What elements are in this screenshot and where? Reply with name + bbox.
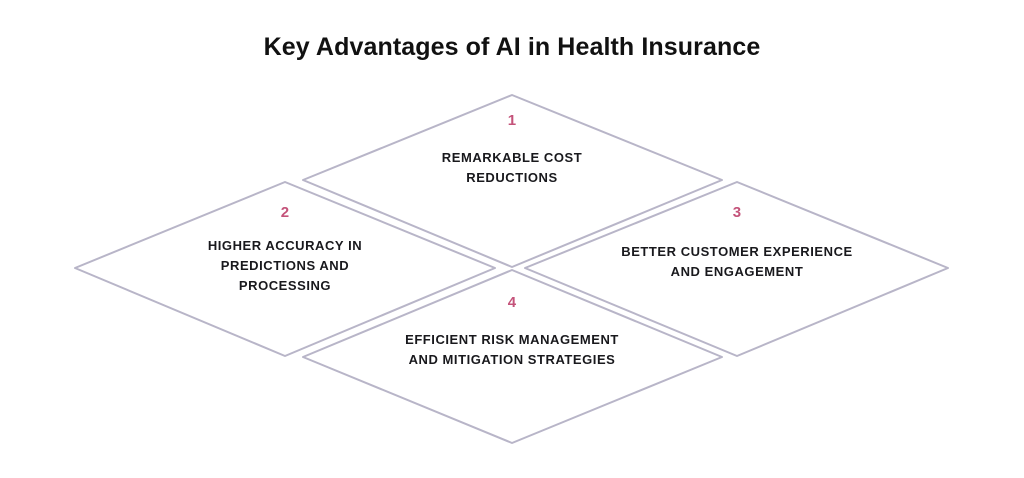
node-1-content[interactable]: 1 Remarkable cost reductions — [362, 112, 662, 188]
infographic-canvas: Key Advantages of AI in Health Insurance… — [0, 0, 1024, 478]
node-3-number: 3 — [587, 204, 887, 222]
node-2-label: Higher accuracy in predictions and proce… — [135, 236, 435, 296]
node-1-number: 1 — [362, 112, 662, 130]
node-1-label: Remarkable cost reductions — [362, 148, 662, 188]
node-3-label: Better customer experience and engagemen… — [587, 242, 887, 282]
node-4-number: 4 — [362, 294, 662, 312]
node-4-content[interactable]: 4 Efficient risk management and mitigati… — [362, 294, 662, 370]
node-2-number: 2 — [135, 204, 435, 222]
node-3-content[interactable]: 3 Better customer experience and engagem… — [587, 204, 887, 282]
node-2-content[interactable]: 2 Higher accuracy in predictions and pro… — [135, 204, 435, 296]
node-4-label: Efficient risk management and mitigation… — [362, 330, 662, 370]
